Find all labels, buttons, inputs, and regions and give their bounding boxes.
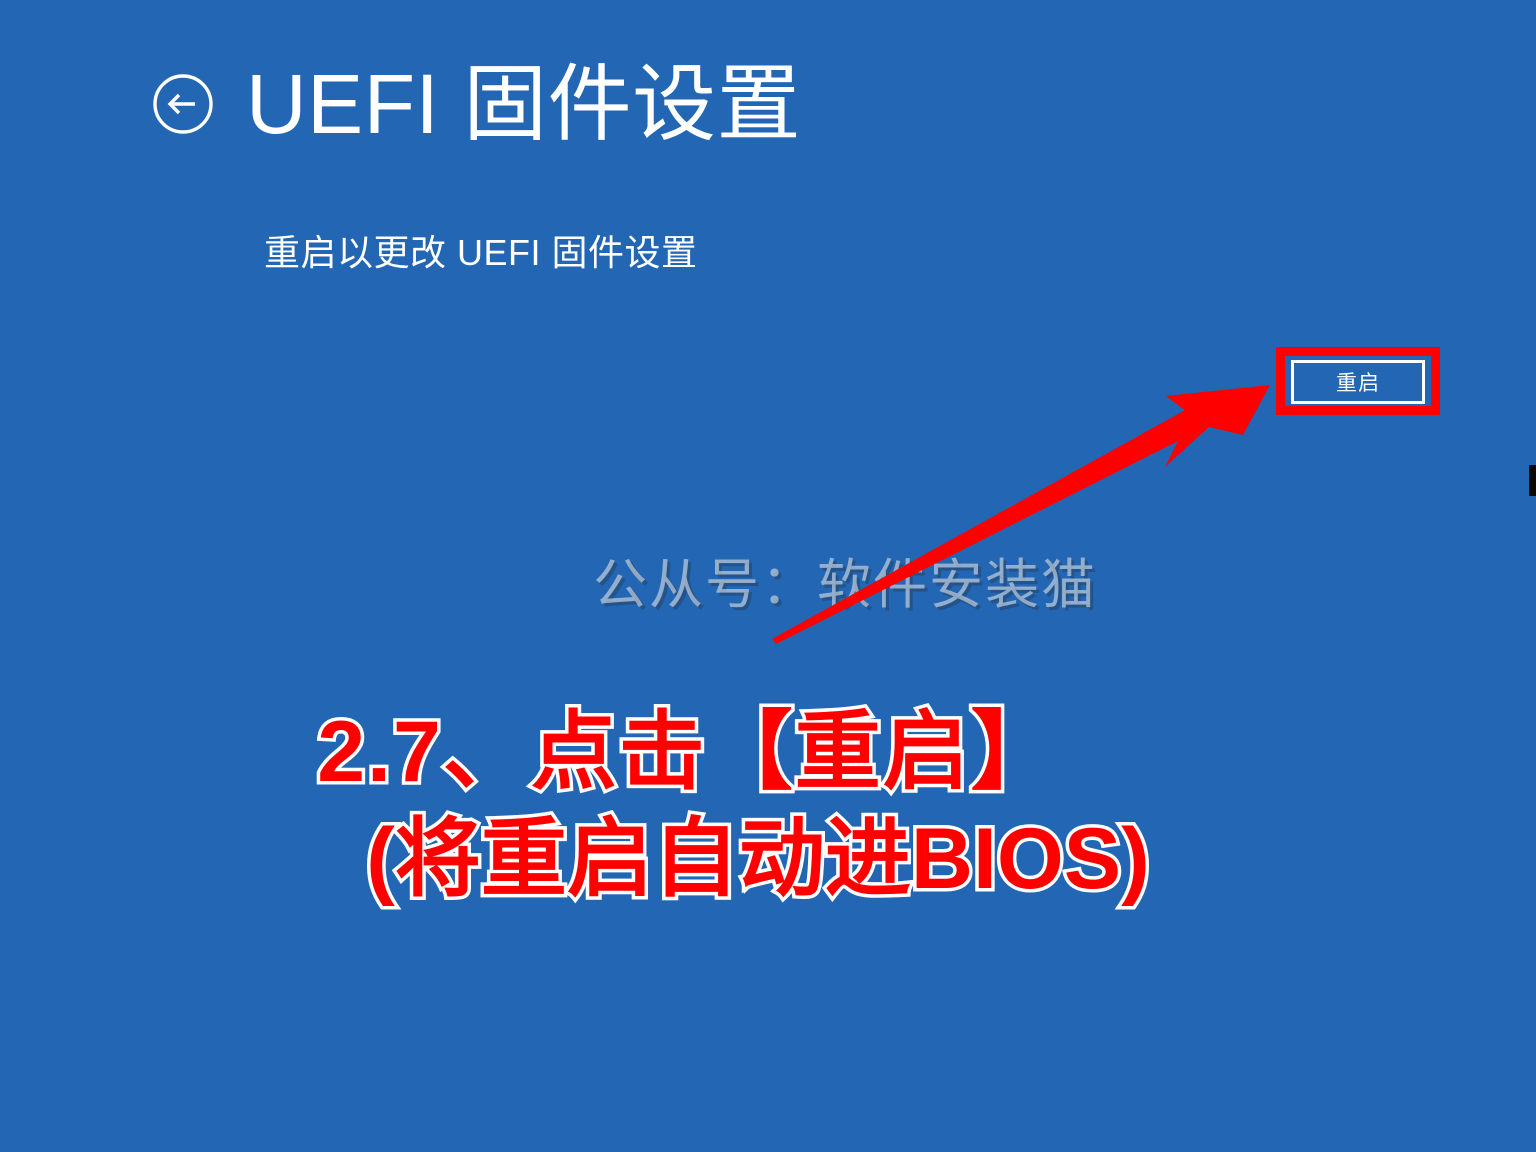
annotation-arrow-shaft bbox=[772, 404, 1208, 644]
back-button[interactable] bbox=[150, 71, 216, 137]
annotation-line-2: (将重启自动进BIOS) bbox=[0, 813, 1526, 906]
right-edge-sliver bbox=[1529, 465, 1536, 496]
header: UEFI 固件设置 bbox=[150, 62, 801, 146]
annotation-line-1: 2.7、点击【重启】 bbox=[0, 706, 1456, 799]
page-subtitle: 重启以更改 UEFI 固件设置 bbox=[264, 231, 698, 274]
page-title: UEFI 固件设置 bbox=[246, 62, 801, 146]
watermark-text: 公从号：软件安装猫 bbox=[593, 540, 1097, 619]
annotation-arrow-head bbox=[1165, 385, 1270, 467]
uefi-firmware-settings-screen: UEFI 固件设置 重启以更改 UEFI 固件设置 重启 公从号：软件安装猫 2… bbox=[0, 0, 1536, 1152]
restart-button[interactable]: 重启 bbox=[1291, 360, 1425, 404]
annotation-arrow-overlay bbox=[0, 0, 1536, 1152]
back-arrow-circle-icon bbox=[150, 71, 216, 137]
annotation-text-block: 2.7、点击【重启】 (将重启自动进BIOS) bbox=[0, 706, 1536, 906]
